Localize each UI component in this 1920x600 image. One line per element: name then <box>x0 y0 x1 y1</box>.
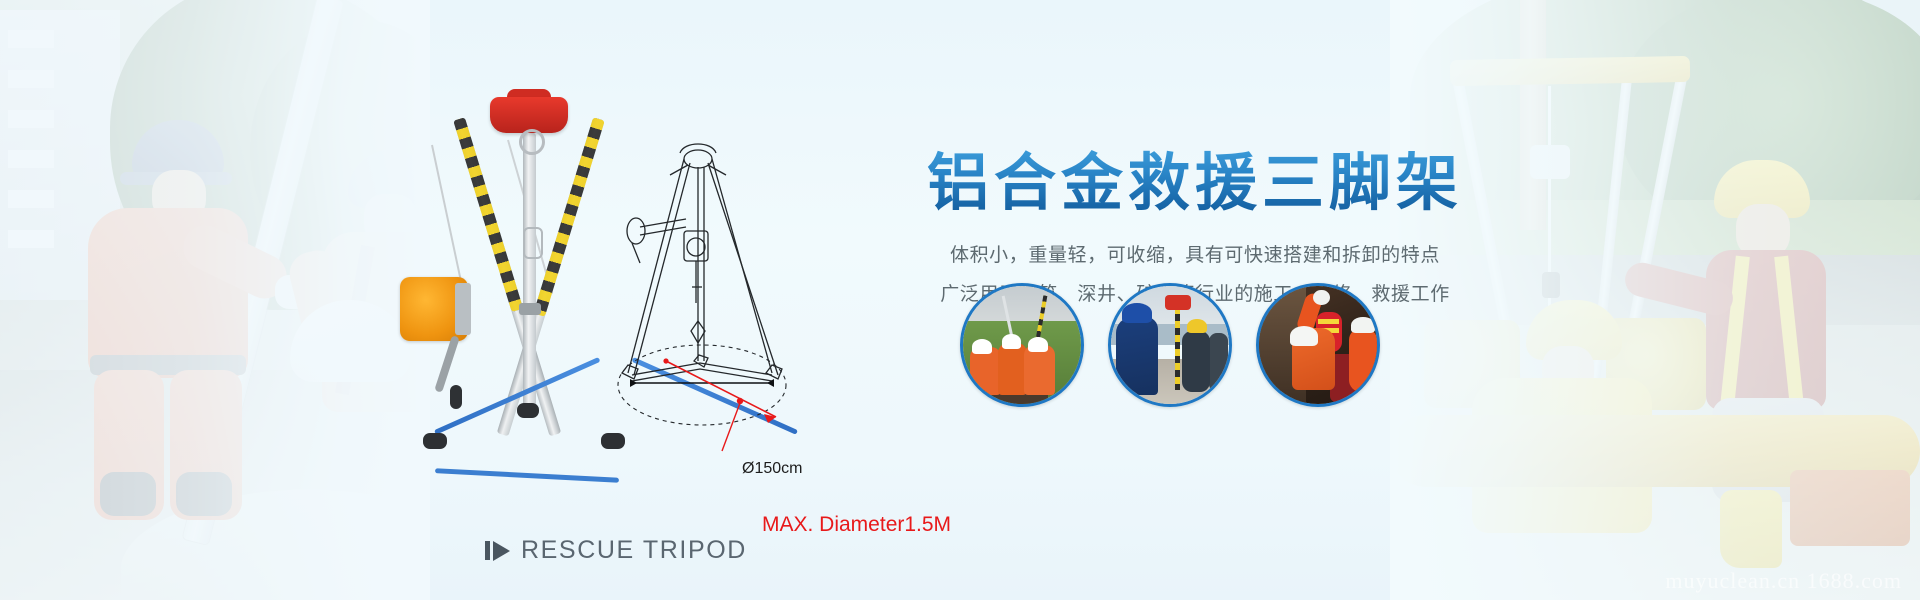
left-photo-tint <box>0 0 430 600</box>
carabiner-icon <box>523 227 543 259</box>
gallery-photo-field-rescue[interactable] <box>960 283 1084 407</box>
watermark-text: muyuclean.cn 1688.com <box>1665 568 1902 594</box>
winch-mount-plate <box>455 283 471 335</box>
play-bar-icon <box>485 541 510 561</box>
subtitle-line-1: 体积小，重量轻，可收缩，具有可快速搭建和拆卸的特点 <box>915 237 1475 274</box>
hazard-stripe-right <box>533 117 604 317</box>
product-banner: muyuclean.cn 1688.com RESCUE TRIPOD <box>0 0 1920 600</box>
schematic-svg <box>610 135 880 465</box>
max-diameter-note: MAX. Diameter1.5M <box>762 513 951 537</box>
diameter-dimension-label: Ø150cm <box>742 460 802 478</box>
gallery-photo-confined-space[interactable] <box>1256 283 1380 407</box>
tripod-head <box>490 97 568 133</box>
left-background-photo <box>0 0 430 600</box>
anchor-ring-icon <box>519 129 545 155</box>
tripod-foot-left <box>423 433 447 449</box>
tripod-foot-center <box>517 403 539 418</box>
rescue-tripod-label: RESCUE TRIPOD <box>485 536 747 565</box>
page-title: 铝合金救援三脚架 <box>915 150 1475 215</box>
base-strap-front <box>435 468 619 483</box>
rescue-tripod-label-text: RESCUE TRIPOD <box>521 536 747 565</box>
winch-cable-left <box>431 145 464 292</box>
tripod-schematic-drawing <box>610 135 880 465</box>
leg-adjust-clamp <box>519 303 541 315</box>
gallery-photo-urban-tripod[interactable] <box>1108 283 1232 407</box>
tripod-leg-center <box>523 133 536 409</box>
winch-crank-grip <box>450 385 462 409</box>
photo-gallery <box>960 283 1380 407</box>
